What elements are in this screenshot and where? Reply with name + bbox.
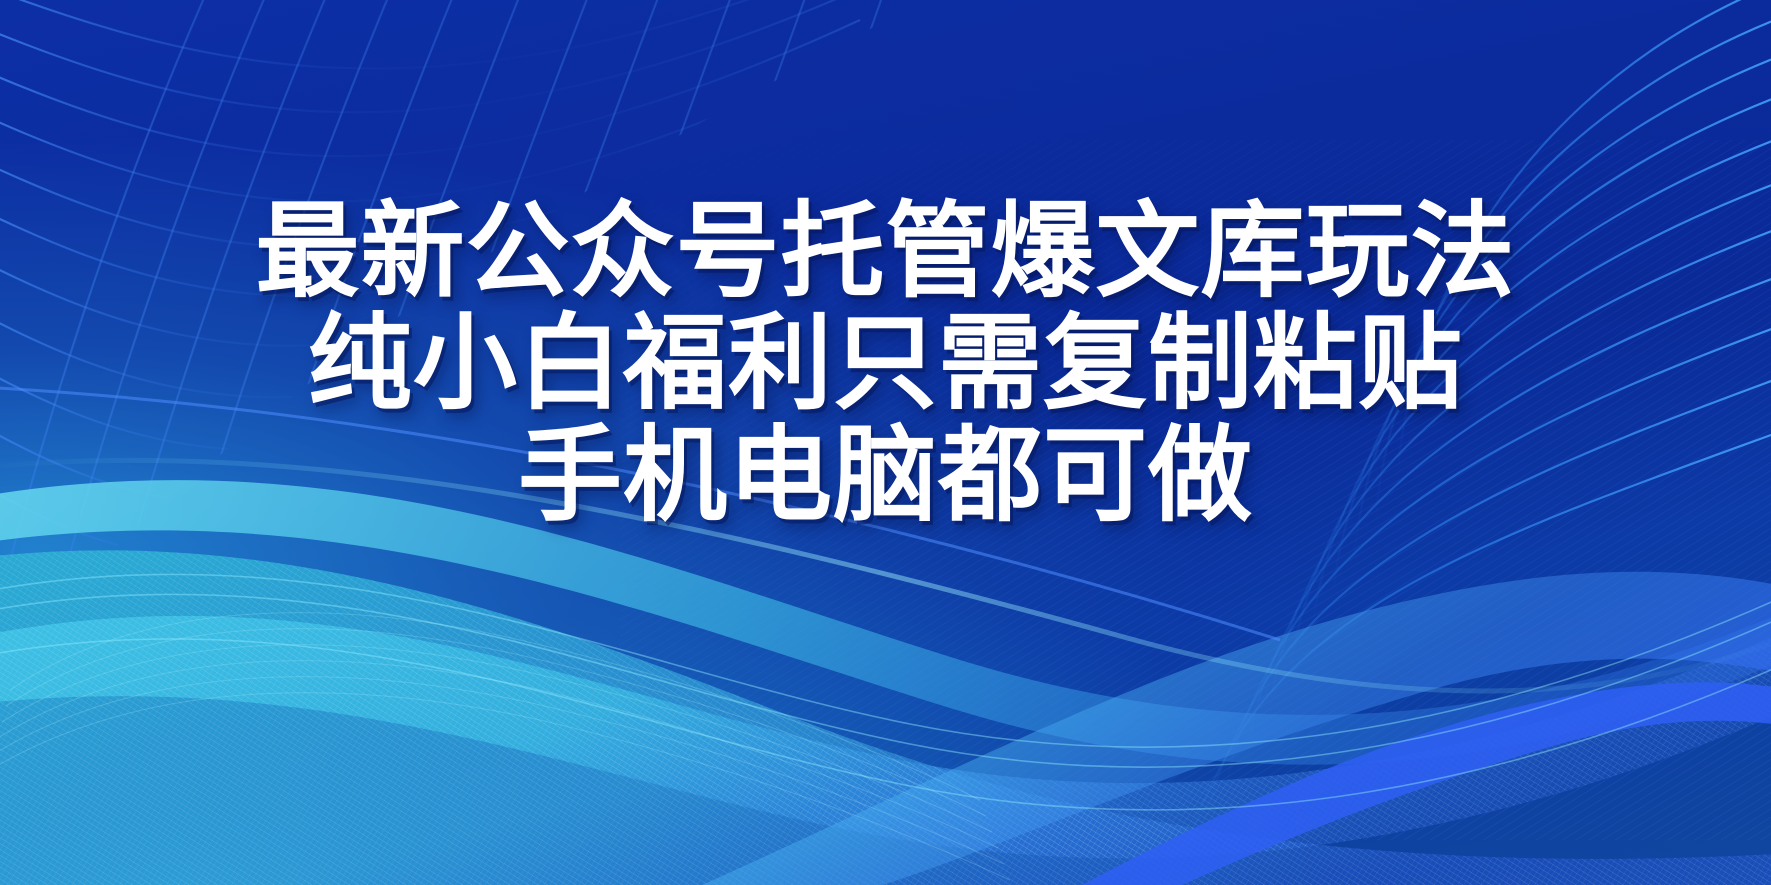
- headline-line-2: 纯小白福利只需复制粘贴: [0, 308, 1771, 420]
- course-cover-banner: 最新公众号托管爆文库玩法 纯小白福利只需复制粘贴 手机电脑都可做: [0, 0, 1771, 885]
- headline-line-1: 最新公众号托管爆文库玩法: [0, 196, 1771, 308]
- headline-block: 最新公众号托管爆文库玩法 纯小白福利只需复制粘贴 手机电脑都可做: [0, 196, 1771, 532]
- headline-line-3: 手机电脑都可做: [0, 420, 1771, 532]
